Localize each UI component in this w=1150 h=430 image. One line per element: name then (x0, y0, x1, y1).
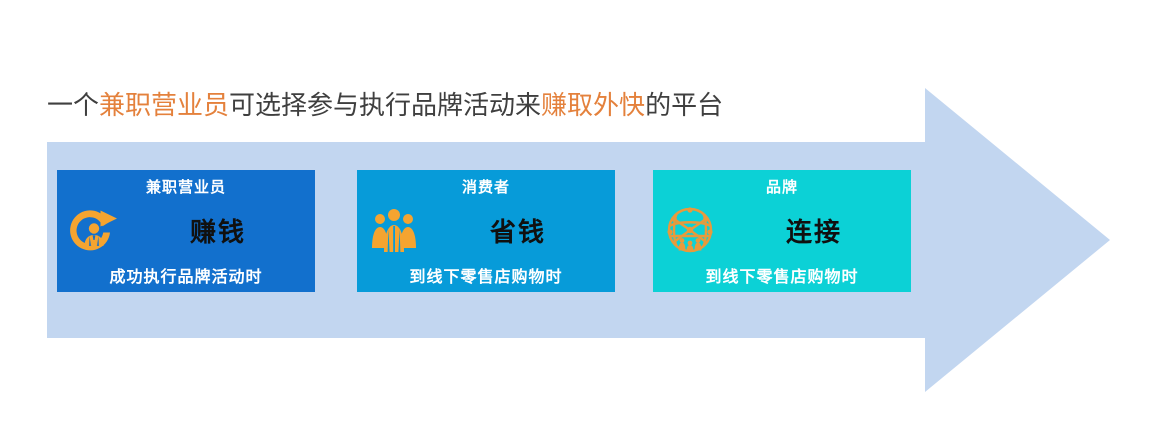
person-circular-arrow-icon (66, 202, 122, 258)
card-consumer[interactable]: 消费者 省钱 到线下零售店 (357, 170, 615, 292)
card-main-label: 省钱 (421, 212, 615, 249)
title-segment-5: 的平台 (645, 91, 723, 120)
card-header-label: 品牌 (653, 176, 911, 197)
card-part-time-clerk[interactable]: 兼职营业员 赚钱 成功执行品牌活动时 (57, 170, 315, 292)
title-segment-1: 一个 (47, 91, 99, 120)
title-segment-4-highlight: 赚取外快 (541, 91, 645, 120)
globe-network-people-icon (662, 202, 718, 258)
title-segment-3: 可选择参与执行品牌活动来 (229, 91, 541, 120)
page-title: 一个兼职营业员可选择参与执行品牌活动来赚取外快的平台 (47, 88, 927, 124)
title-segment-2-highlight: 兼职营业员 (99, 91, 229, 120)
card-header-label: 消费者 (357, 176, 615, 197)
card-brand[interactable]: 品牌 (653, 170, 911, 292)
card-footer-label: 到线下零售店购物时 (653, 263, 911, 287)
card-row: 兼职营业员 赚钱 成功执行品牌活动时 (57, 170, 917, 292)
card-header-label: 兼职营业员 (57, 176, 315, 197)
card-footer-label: 到线下零售店购物时 (357, 263, 615, 287)
card-main-label: 连接 (717, 212, 911, 249)
card-main-label: 赚钱 (121, 212, 315, 249)
people-group-icon (366, 202, 422, 258)
card-footer-label: 成功执行品牌活动时 (57, 263, 315, 287)
slide-canvas: 一个兼职营业员可选择参与执行品牌活动来赚取外快的平台 兼职营业员 (0, 0, 1150, 430)
